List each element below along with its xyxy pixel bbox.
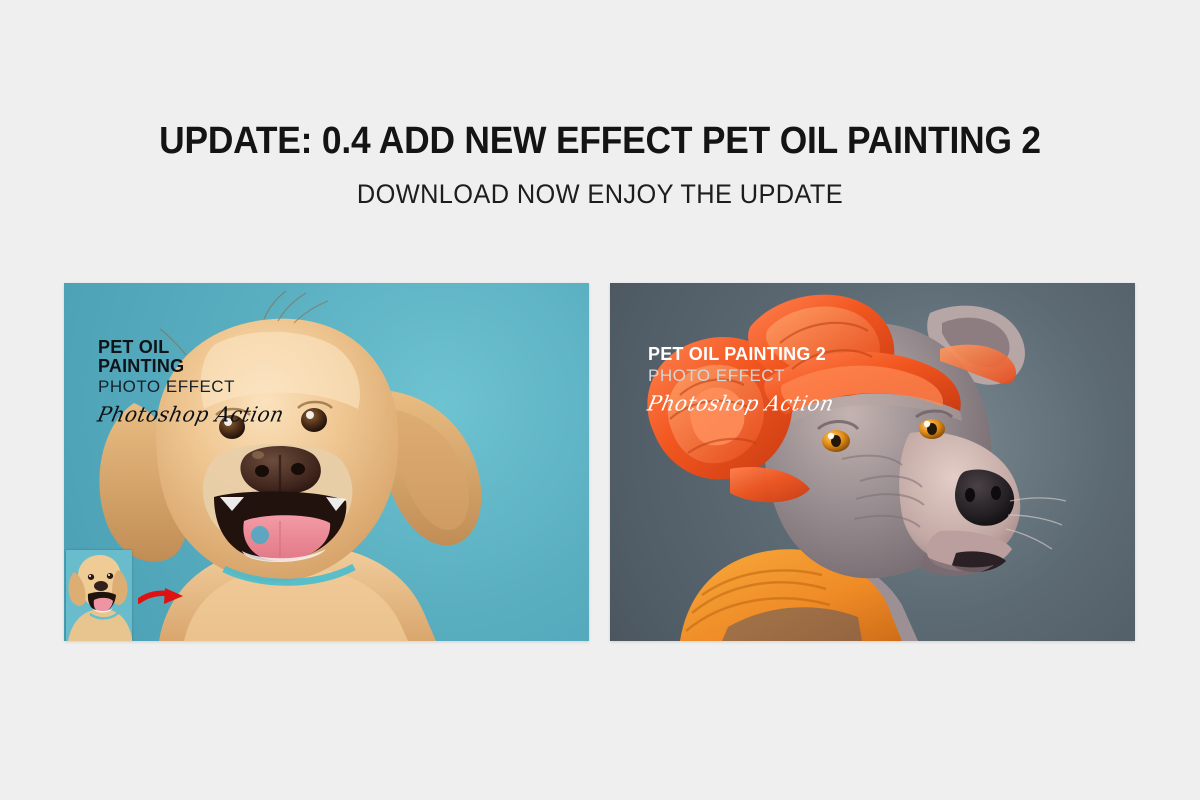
page-subtitle: DOWNLOAD NOW ENJOY THE UPDATE — [36, 178, 1164, 210]
before-photo-illustration — [66, 550, 132, 641]
header: UPDATE: 0.4 ADD NEW EFFECT PET OIL PAINT… — [0, 118, 1200, 210]
caption-block: PET OIL PAINTING PHOTO EFFECT Photoshop … — [98, 338, 284, 427]
caption-script: Photoshop Action — [95, 400, 287, 427]
caption-subtitle: PHOTO EFFECT — [648, 366, 834, 386]
caption-script: Photoshop Action — [645, 389, 837, 416]
pet-oil-painting-2-preview[interactable]: PET OIL PAINTING 2 PHOTO EFFECT Photosho… — [610, 283, 1135, 641]
arrow-right-icon — [138, 588, 184, 610]
caption-subtitle: PHOTO EFFECT — [98, 377, 284, 397]
caption-title: PET OIL PAINTING — [98, 338, 284, 375]
before-photo-thumbnail[interactable] — [66, 550, 132, 641]
caption-title: PET OIL PAINTING 2 — [648, 345, 834, 364]
page-title: UPDATE: 0.4 ADD NEW EFFECT PET OIL PAINT… — [42, 118, 1158, 164]
caption-block: PET OIL PAINTING 2 PHOTO EFFECT Photosho… — [648, 345, 834, 416]
pitbull-turban-illustration — [610, 283, 1135, 641]
pet-oil-painting-preview[interactable]: PET OIL PAINTING PHOTO EFFECT Photoshop … — [64, 283, 589, 641]
